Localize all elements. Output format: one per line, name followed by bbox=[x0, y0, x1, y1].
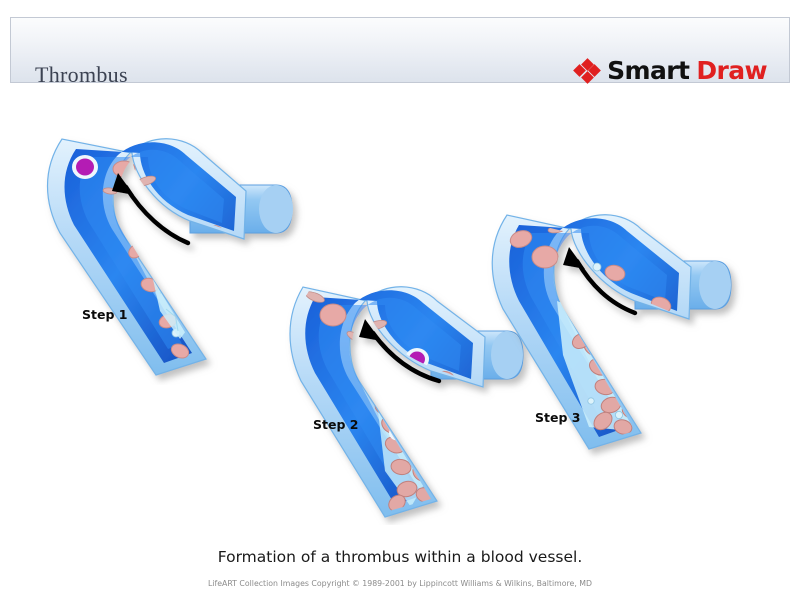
smartdraw-logo: SmartDraw bbox=[574, 58, 767, 83]
step-3-vessel-svg bbox=[485, 205, 775, 465]
figure-caption: Formation of a thrombus within a blood v… bbox=[0, 548, 800, 566]
white-blood-cell bbox=[72, 155, 98, 179]
thrombus-white-cell bbox=[593, 343, 610, 359]
page-title: Thrombus bbox=[35, 62, 128, 88]
step-3-label: Step 3 bbox=[535, 410, 580, 425]
red-diamond-cluster-icon bbox=[574, 60, 600, 82]
copyright-notice: LifeART Collection Images Copyright © 19… bbox=[0, 579, 800, 588]
vessel-body bbox=[48, 139, 294, 375]
figure-stage: Step 1 bbox=[0, 95, 800, 535]
brand-word-smart: Smart bbox=[607, 58, 689, 83]
brand-word-draw: Draw bbox=[696, 58, 767, 83]
step-1-vessel-svg bbox=[40, 125, 320, 385]
step-3-illustration: Step 3 bbox=[485, 205, 775, 470]
step-1-label: Step 1 bbox=[82, 307, 127, 322]
step-1-illustration: Step 1 bbox=[40, 125, 320, 390]
tube-end-cap bbox=[259, 185, 293, 233]
vessel-body bbox=[492, 215, 731, 449]
header-bar: Thrombus SmartDraw bbox=[10, 17, 790, 83]
step-2-label: Step 2 bbox=[313, 417, 358, 432]
tube-end-cap bbox=[699, 261, 731, 309]
